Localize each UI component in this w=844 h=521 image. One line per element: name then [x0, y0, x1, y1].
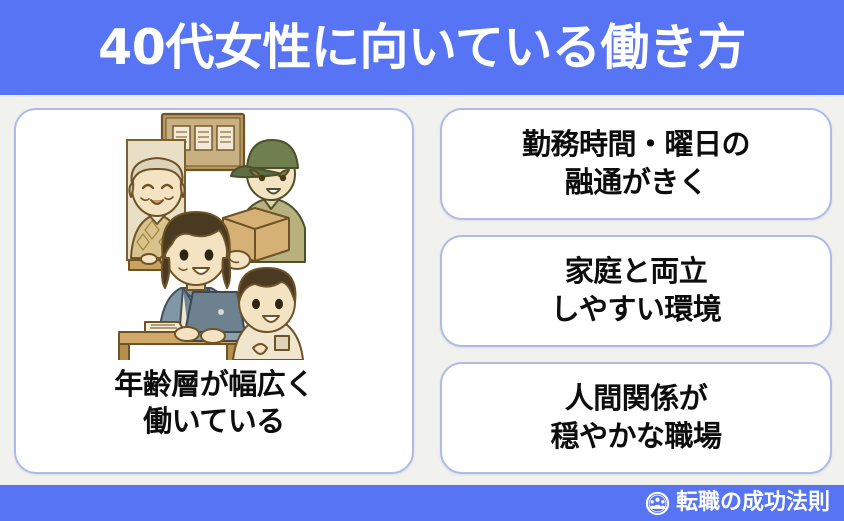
brand: 転職の成功法則	[645, 491, 830, 516]
brand-circle-logo	[645, 491, 670, 516]
feature-card-1: 勤務時間・曜日の 融通がきく	[440, 108, 832, 220]
illustration-caption: 年齢層が幅広く 働いている	[114, 366, 314, 440]
feature-card-2-text: 家庭と両立 しやすい環境	[551, 253, 722, 328]
footer-bar: 転職の成功法則	[0, 485, 844, 521]
feature-card-3: 人間関係が 穏やかな職場	[440, 362, 832, 474]
page-title: 40代女性に向いている働き方	[98, 23, 746, 72]
header-bar: 40代女性に向いている働き方	[0, 0, 844, 97]
infographic-poster: 40代女性に向いている働き方	[0, 0, 844, 521]
illustration-card: 年齢層が幅広く 働いている	[14, 108, 414, 474]
content-area: 年齢層が幅広く 働いている 勤務時間・曜日の 融通がきく 家庭と両立 しやすい環…	[0, 97, 844, 485]
feature-card-2: 家庭と両立 しやすい環境	[440, 235, 832, 347]
feature-card-3-text: 人間関係が 穏やかな職場	[550, 380, 721, 455]
feature-card-1-text: 勤務時間・曜日の 融通がきく	[522, 126, 750, 201]
brand-name: 転職の成功法則	[676, 492, 830, 514]
workplace-people-illustration	[117, 110, 311, 360]
